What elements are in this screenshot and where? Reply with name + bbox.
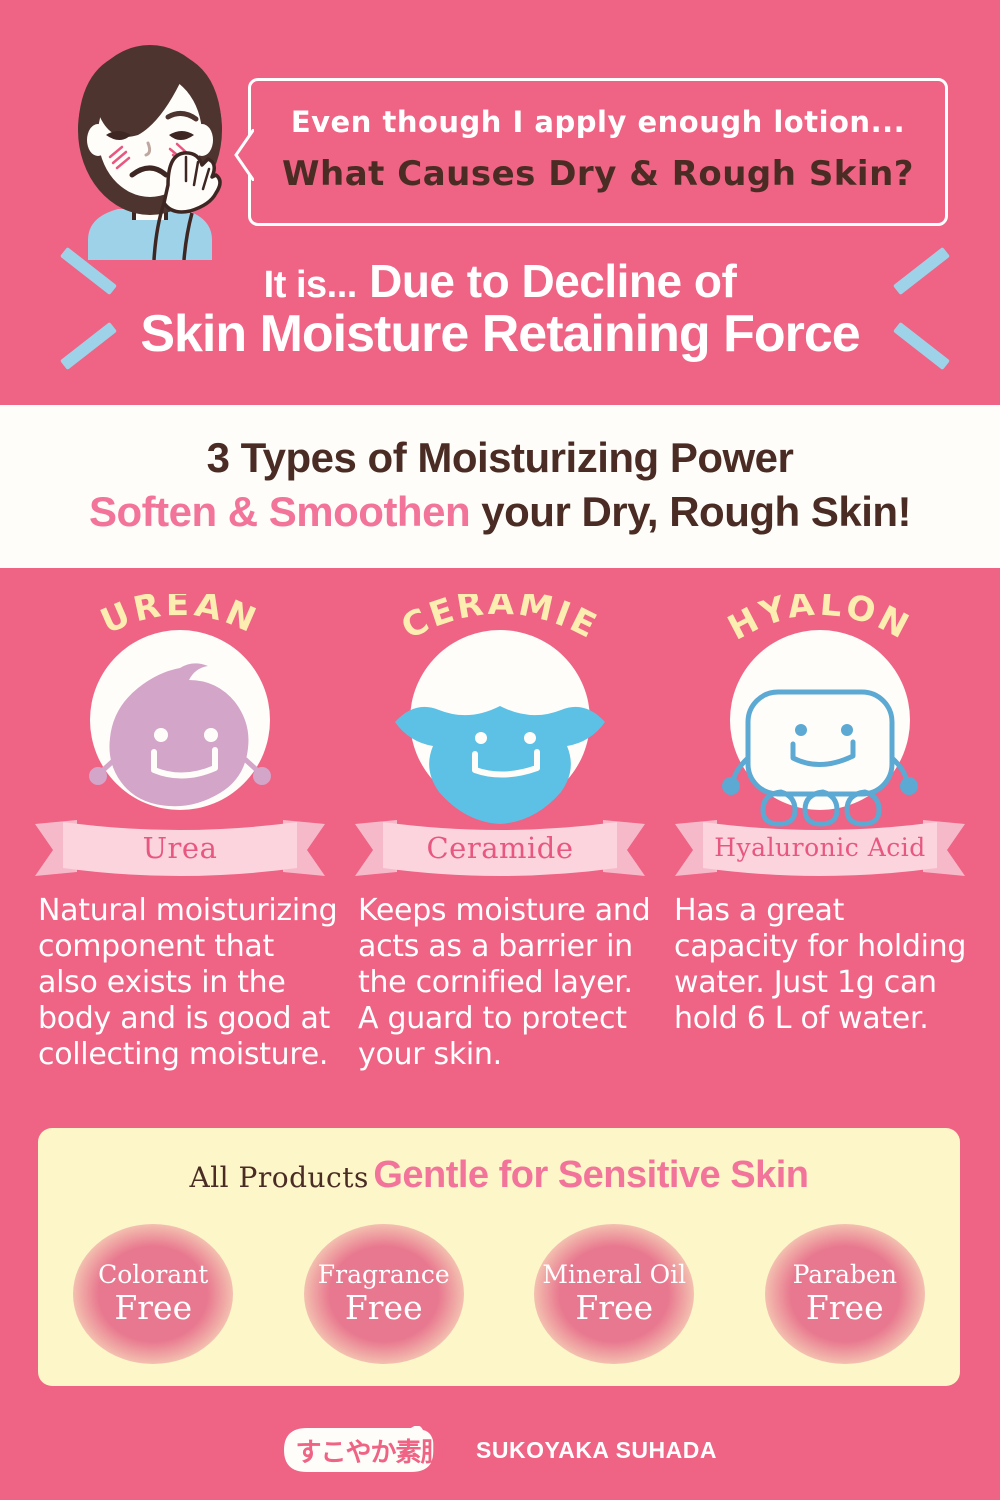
speech-bubble: Even though I apply enough lotion... Wha… <box>248 78 948 226</box>
brand-logo-pill: すこやか素肌 <box>283 1426 458 1474</box>
badge-bottom-label: Free <box>345 1291 423 1326</box>
hero-section: Even though I apply enough lotion... Wha… <box>0 0 1000 405</box>
badge-top-label: Mineral Oil <box>542 1262 686 1287</box>
free-badges-row: Colorant Free Fragrance Free Mineral Oil… <box>38 1220 960 1368</box>
band-line-2-highlight: Soften & Smoothen <box>89 488 470 535</box>
hero-headline: It is... Due to Decline of Skin Moisture… <box>0 258 1000 365</box>
badge-bottom-label: Free <box>806 1291 884 1326</box>
badge-bottom-label: Free <box>575 1291 653 1326</box>
ribbon-label-urea: Urea <box>20 818 340 878</box>
badge-top-label: Fragrance <box>318 1262 450 1287</box>
bubble-line-1: Even though I apply enough lotion... <box>251 105 945 139</box>
band-line-2-rest: your Dry, Rough Skin! <box>470 488 911 535</box>
bubble-line-2: What Causes Dry & Rough Skin? <box>251 154 945 194</box>
card-title-main: Gentle for Sensitive Skin <box>373 1154 808 1196</box>
badge-top-label: Colorant <box>98 1262 208 1287</box>
free-badge: Mineral Oil Free <box>524 1220 704 1368</box>
worried-woman-illustration <box>60 35 240 260</box>
ribbon-label-ceramide: Ceramide <box>340 818 660 878</box>
free-badge: Fragrance Free <box>294 1220 474 1368</box>
badge-bottom-label: Free <box>114 1291 192 1326</box>
card-title-prefix: All Products <box>189 1161 368 1194</box>
description-urea: Natural moisturizing component that also… <box>38 893 338 1073</box>
ribbon-label-hyaluronic-acid: Hyaluronic Acid <box>660 818 980 878</box>
free-badge: Paraben Free <box>755 1220 935 1368</box>
card-title: All Products Gentle for Sensitive Skin <box>38 1154 960 1197</box>
description-hyaluronic-acid: Has a great capacity for holding water. … <box>674 893 974 1037</box>
headline-line-2: Skin Moisture Retaining Force <box>0 304 1000 365</box>
sensitive-skin-card: All Products Gentle for Sensitive Skin C… <box>38 1128 960 1386</box>
free-badge: Colorant Free <box>63 1220 243 1368</box>
badge-top-label: Paraben <box>793 1262 897 1287</box>
brand-footer: すこやか素肌 SUKOYAKA SUHADA <box>0 1415 1000 1485</box>
subtitle-band: 3 Types of Moisturizing Power Soften & S… <box>0 405 1000 568</box>
description-ceramide: Keeps moisture and acts as a barrier in … <box>358 893 658 1073</box>
headline-line-1: Due to Decline of <box>369 255 736 307</box>
ingredients-section: UREAN Urea <box>0 568 1000 1128</box>
logo-japanese-text: すこやか素肌 <box>283 1426 458 1474</box>
band-line-1: 3 Types of Moisturizing Power <box>0 434 1000 482</box>
headline-prefix: It is... <box>264 264 357 306</box>
logo-romaji-text: SUKOYAKA SUHADA <box>476 1437 717 1464</box>
band-line-2: Soften & Smoothen your Dry, Rough Skin! <box>0 488 1000 536</box>
